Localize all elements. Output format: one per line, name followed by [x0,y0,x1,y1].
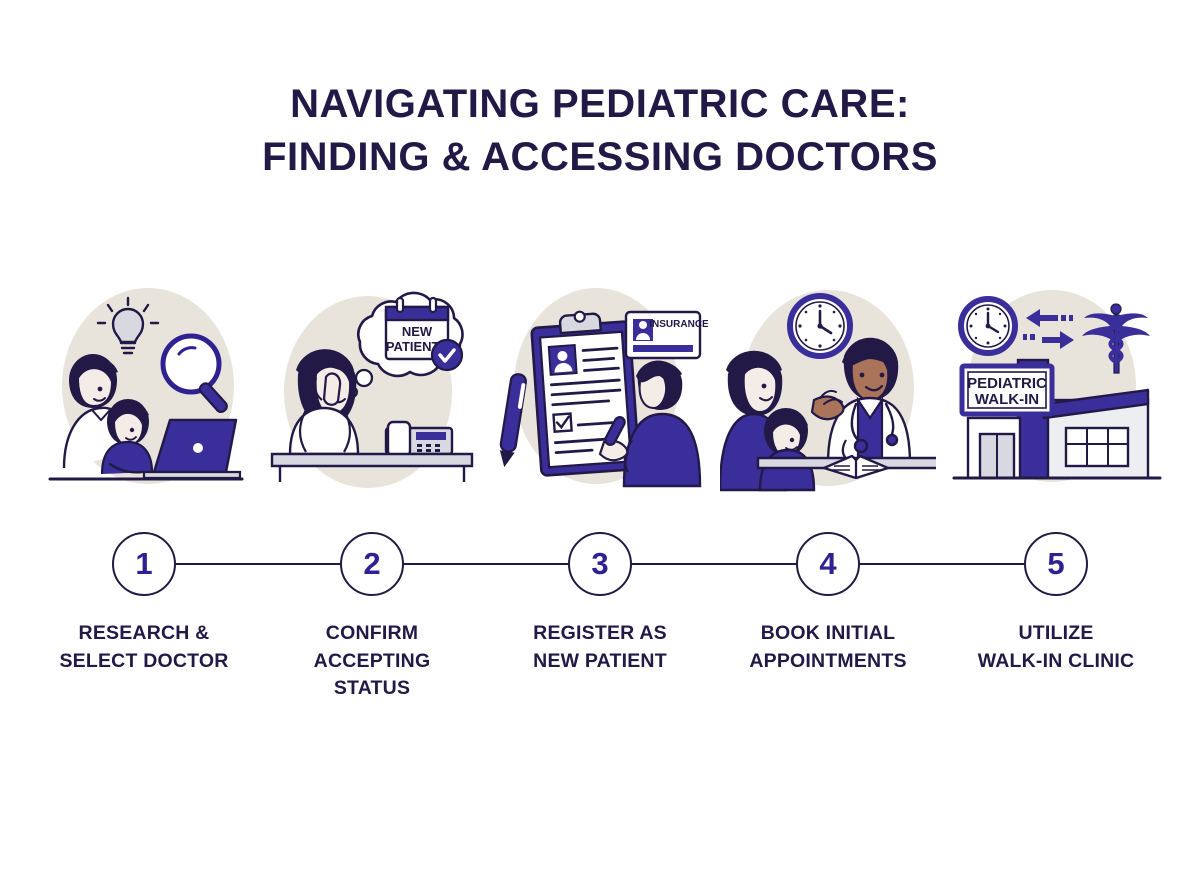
child-eye [790,438,794,442]
step-caption-3-line-1: REGISTER AS [492,620,708,648]
child-eye [130,428,134,432]
step-node-slot-2: 2 [264,532,480,596]
step-caption-1: RESEARCH & SELECT DOCTOR [36,620,252,675]
step-circle-5[interactable]: 5 [1024,532,1088,596]
step-node-slot-4: 4 [720,532,936,596]
parent-eye [98,387,103,392]
window [1066,428,1128,466]
entry-door [980,434,1014,478]
illustration-research-select-doctor [36,282,252,494]
calendar-label-line1: NEW [402,324,433,339]
check-badge-icon [432,340,462,370]
step-caption-4-line-1: BOOK INITIAL [720,620,936,648]
step-caption-2-line-2: ACCEPTING [264,648,480,676]
page-title: NAVIGATING PEDIATRIC CARE: FINDING & ACC… [0,78,1200,184]
step-circle-3[interactable]: 3 [568,532,632,596]
step-timeline: 1 2 3 4 5 [36,518,1164,610]
step-caption-2-line-1: CONFIRM [264,620,480,648]
illustration-register-as-new-patient: INSURANCE [492,282,708,494]
title-line-1: NAVIGATING PEDIATRIC CARE: [0,78,1200,131]
illustration-utilize-walk-in-clinic: PEDIATRIC WALK-IN [948,282,1164,494]
illustration-row: NEW PATIENTS [36,282,1164,494]
title-line-2: FINDING & ACCESSING DOCTORS [0,131,1200,184]
step-node-slot-1: 1 [36,532,252,596]
step-circle-1[interactable]: 1 [112,532,176,596]
insurance-card-icon: INSURANCE [626,312,708,358]
clinic-sign: PEDIATRIC WALK-IN [962,366,1052,414]
step-caption-5-line-1: UTILIZE [948,620,1164,648]
step-node-slot-5: 5 [948,532,1164,596]
illustration-book-initial-appointments [720,282,936,494]
parent-eye [762,384,767,389]
step-node-slot-3: 3 [492,532,708,596]
step-caption-4-line-2: APPOINTMENTS [720,648,936,676]
step-caption-3: REGISTER AS NEW PATIENT [492,620,708,675]
illustration-confirm-accepting-status: NEW PATIENTS [264,282,480,494]
step-caption-5: UTILIZE WALK-IN CLINIC [948,620,1164,675]
step-caption-3-line-2: NEW PATIENT [492,648,708,676]
clinic-sign-line1: PEDIATRIC [967,375,1047,392]
step-caption-2-line-3: STATUS [264,675,480,703]
step-captions-row: RESEARCH & SELECT DOCTOR CONFIRM ACCEPTI… [36,620,1164,703]
infographic-root: NAVIGATING PEDIATRIC CARE: FINDING & ACC… [0,0,1200,896]
wall-clock-icon [790,296,850,356]
wall-clock-icon [961,299,1015,353]
step-circle-2[interactable]: 2 [340,532,404,596]
insurance-card-label: INSURANCE [649,319,708,330]
desk-phone-icon [386,422,452,456]
step-circle-4[interactable]: 4 [796,532,860,596]
step-caption-2: CONFIRM ACCEPTING STATUS [264,620,480,703]
step-caption-4: BOOK INITIAL APPOINTMENTS [720,620,936,675]
checkbox-icon [553,414,571,432]
step-caption-1-line-1: RESEARCH & [36,620,252,648]
step-caption-1-line-2: SELECT DOCTOR [36,648,252,676]
step-caption-5-line-2: WALK-IN CLINIC [948,648,1164,676]
clinic-sign-line2: WALK-IN [975,391,1039,408]
